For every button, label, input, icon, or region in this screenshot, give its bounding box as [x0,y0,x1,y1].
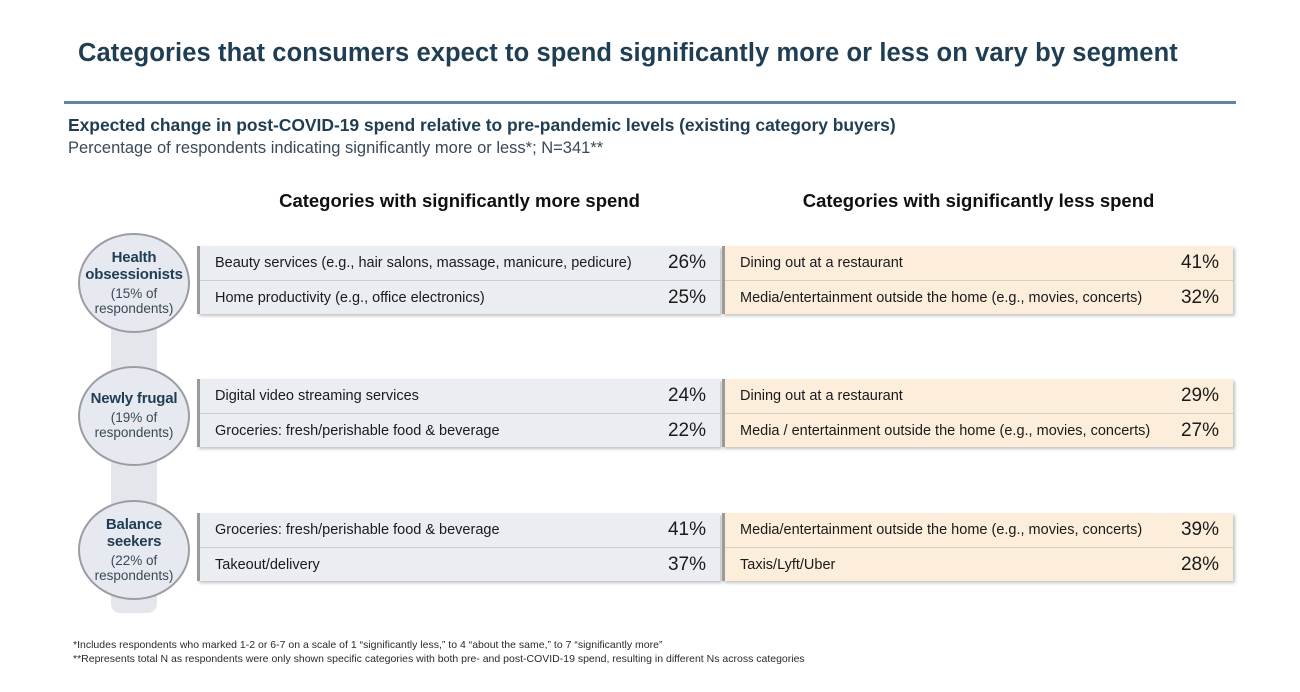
segment-name: Balance seekers [106,517,162,551]
slide: Categories that consumers expect to spen… [0,0,1300,692]
less-spend-panel: Media/entertainment outside the home (e.… [722,513,1233,581]
page-title: Categories that consumers expect to spen… [78,38,1238,69]
footnotes: *Includes respondents who marked 1-2 or … [73,638,805,667]
category-label: Dining out at a restaurant [740,255,1165,271]
less-spend-panel: Dining out at a restaurant 41% Media/ent… [722,246,1233,314]
less-spend-panel: Dining out at a restaurant 29% Media / e… [722,379,1233,447]
table-row[interactable]: Dining out at a restaurant 29% [725,379,1233,413]
more-spend-panel: Beauty services (e.g., hair salons, mass… [197,246,720,314]
category-label: Digital video streaming services [215,388,652,404]
table-row[interactable]: Taxis/Lyft/Uber 28% [725,547,1233,581]
category-value: 25% [652,287,706,309]
category-value: 41% [1165,252,1219,274]
segment-share: (15% of respondents) [95,286,174,316]
footnote-1: *Includes respondents who marked 1-2 or … [73,638,805,652]
column-header-less: Categories with significantly less spend [722,190,1235,212]
table-row[interactable]: Groceries: fresh/perishable food & bever… [200,413,720,447]
segment-badge-newly-frugal[interactable]: Newly frugal (19% of respondents) [78,366,190,466]
more-spend-panel: Groceries: fresh/perishable food & bever… [197,513,720,581]
category-label: Groceries: fresh/perishable food & bever… [215,423,652,439]
table-row[interactable]: Media/entertainment outside the home (e.… [725,280,1233,314]
title-divider [64,101,1236,104]
segment-badge-balance-seekers[interactable]: Balance seekers (22% of respondents) [78,500,190,600]
category-value: 28% [1165,554,1219,576]
category-value: 32% [1165,287,1219,309]
category-label: Media / entertainment outside the home (… [740,423,1165,439]
category-value: 24% [652,385,706,407]
category-label: Dining out at a restaurant [740,388,1165,404]
table-row[interactable]: Media/entertainment outside the home (e.… [725,513,1233,547]
subtitle-secondary: Percentage of respondents indicating sig… [68,139,603,158]
category-label: Media/entertainment outside the home (e.… [740,522,1165,538]
subtitle-primary: Expected change in post-COVID-19 spend r… [68,115,896,136]
footnote-2: **Represents total N as respondents were… [73,652,805,666]
table-row[interactable]: Takeout/delivery 37% [200,547,720,581]
table-row[interactable]: Beauty services (e.g., hair salons, mass… [200,246,720,280]
category-label: Taxis/Lyft/Uber [740,557,1165,573]
table-row[interactable]: Groceries: fresh/perishable food & bever… [200,513,720,547]
category-value: 26% [652,252,706,274]
category-value: 37% [652,554,706,576]
category-label: Takeout/delivery [215,557,652,573]
category-label: Media/entertainment outside the home (e.… [740,290,1165,306]
segment-name: Health obsessionists [85,250,182,284]
column-header-more: Categories with significantly more spend [197,190,722,212]
category-value: 27% [1165,420,1219,442]
segment-badge-health-obsessionists[interactable]: Health obsessionists (15% of respondents… [78,233,190,333]
category-label: Home productivity (e.g., office electron… [215,290,652,306]
table-row[interactable]: Digital video streaming services 24% [200,379,720,413]
category-value: 22% [652,420,706,442]
table-row[interactable]: Media / entertainment outside the home (… [725,413,1233,447]
more-spend-panel: Digital video streaming services 24% Gro… [197,379,720,447]
segment-share: (19% of respondents) [95,410,174,440]
table-row[interactable]: Dining out at a restaurant 41% [725,246,1233,280]
category-label: Beauty services (e.g., hair salons, mass… [215,255,652,271]
category-value: 39% [1165,519,1219,541]
category-value: 29% [1165,385,1219,407]
category-label: Groceries: fresh/perishable food & bever… [215,522,652,538]
table-row[interactable]: Home productivity (e.g., office electron… [200,280,720,314]
category-value: 41% [652,519,706,541]
segment-share: (22% of respondents) [95,553,174,583]
segment-name: Newly frugal [91,391,178,408]
